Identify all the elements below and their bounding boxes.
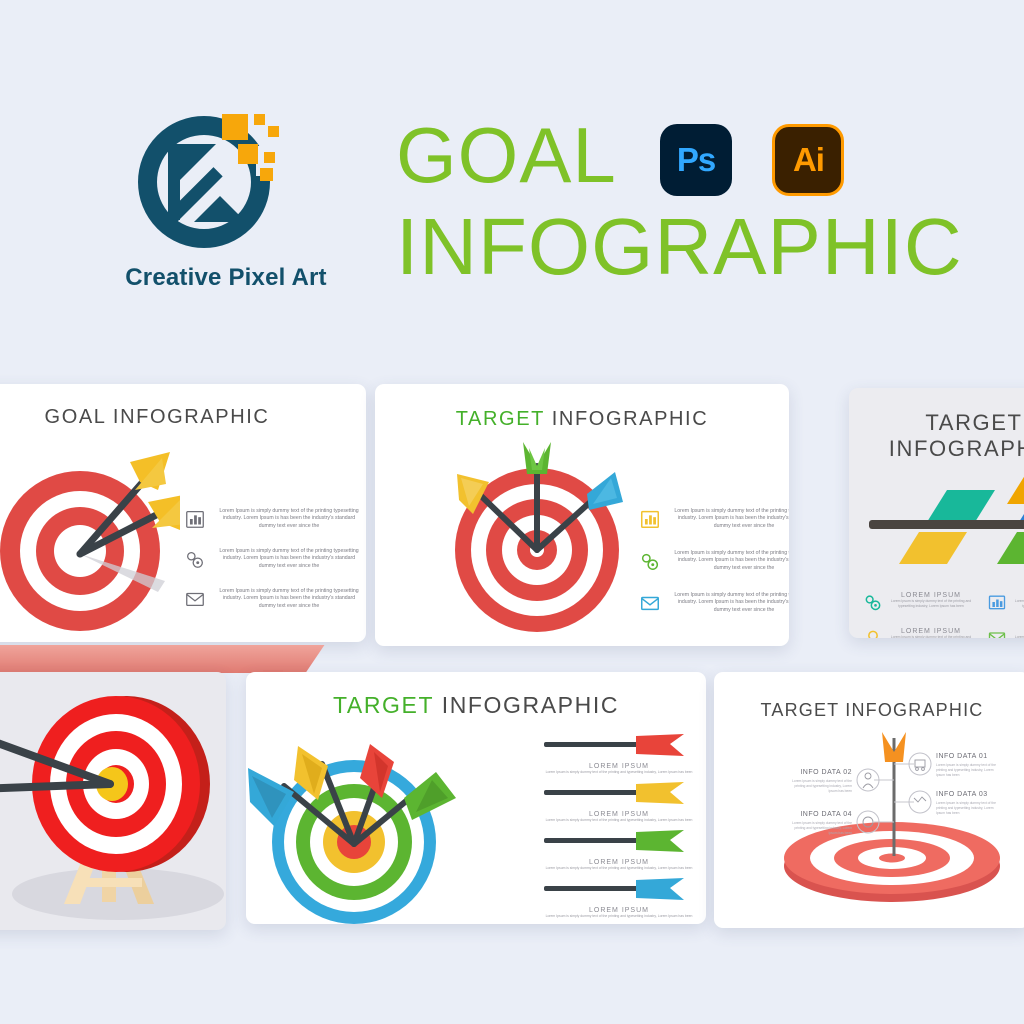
bar-chart-icon [987,592,1007,612]
logo-pixel-6 [260,168,273,181]
card3-item-2-label: LOREM IPSUM [1013,592,1024,599]
logo-pixel-2 [254,114,265,125]
illustrator-badge-label: Ai [775,127,841,193]
svg-text:Ipsum has been: Ipsum has been [829,831,853,835]
card5-legend-2-note: Lorem Ipsum is simply dummy text of the … [544,818,694,823]
card3-item-1-note: Lorem Ipsum is simply dummy text of the … [889,599,973,608]
card3-item-3-label: LOREM IPSUM [889,628,973,635]
slide-card-goal-infographic[interactable]: GOAL INFOGRAPHIC Lorem Ipsum is simply d… [0,384,366,642]
card2-row-1-text: Lorem Ipsum is simply dummy text of the … [669,508,789,530]
card5-legend-1-label: LOREM IPSUM [544,763,694,770]
card6-node-1-label: INFO DATA 01 [936,753,988,760]
svg-text:printing and typesetting indus: printing and typesetting industry, Lorem [795,784,853,788]
card5-legend-4: LOREM IPSUM Lorem Ipsum is simply dummy … [544,878,694,919]
card5-legend-2-label: LOREM IPSUM [544,811,694,818]
decorative-band [0,645,305,673]
card5-legend-4-note: Lorem Ipsum is simply dummy text of the … [544,914,694,919]
card1-row-1-text: Lorem Ipsum is simply dummy text of the … [214,508,364,530]
card5-arrow-1-icon [544,734,694,756]
slide-card-target-infographic-a[interactable]: TARGET INFOGRAPHIC [375,384,789,646]
card2-row-3: Lorem Ipsum is simply dummy text of the … [639,592,789,614]
photoshop-badge-label: Ps [660,124,732,196]
gears-icon [184,548,206,570]
software-badges: Ps Ai [660,124,844,196]
card2-title-accent: TARGET [456,408,545,430]
svg-text:printing and typesetting indus: printing and typesetting industry, Lorem [936,768,994,772]
card3-item-4-note: Lorem Ipsum is simply dummy text of the … [1013,635,1024,638]
card5-legend-3: LOREM IPSUM Lorem Ipsum is simply dummy … [544,830,694,871]
card3-title-line-1: TARGET [849,410,1024,436]
card3-item-4: LOREM IPSUM Lorem Ipsum is simply dummy … [987,628,1024,638]
card2-row-2: Lorem Ipsum is simply dummy text of the … [639,550,789,572]
card5-legend-4-label: LOREM IPSUM [544,907,694,914]
card6-node-4-label: INFO DATA 04 [800,811,852,818]
photoshop-badge[interactable]: Ps [660,124,732,196]
slide-card-multicolor-target[interactable]: TARGET INFOGRAPHIC [246,672,706,924]
svg-text:Lorem Ipsum is simply dummy te: Lorem Ipsum is simply dummy text of the [792,779,852,783]
svg-text:Ipsum has been: Ipsum has been [936,811,960,815]
card1-row-3: Lorem Ipsum is simply dummy text of the … [184,588,364,610]
poster-canvas: Creative Pixel Art GOAL INFOGRAPHIC Ps A… [0,0,1024,1024]
card3-item-1-label: LOREM IPSUM [889,592,973,599]
card5-arrow-3-icon [544,830,694,852]
card3-item-2-note: Lorem Ipsum is simply dummy text of the … [1013,599,1024,608]
illustrator-badge[interactable]: Ai [772,124,844,196]
logo-k-glyph [168,144,244,224]
card3-item-2: LOREM IPSUM Lorem Ipsum is simply dummy … [987,592,1024,612]
card4-easel-target-graphic: LOREM IPSUM LOREM IPSUM Lorem Ipsum is s… [0,672,226,930]
bar-chart-icon [639,508,661,530]
card5-title: TARGET INFOGRAPHIC [246,692,706,719]
card3-item-1: LOREM IPSUM Lorem Ipsum is simply dummy … [863,592,973,612]
card3-chevron-arrow-graphic [857,464,1024,584]
gears-icon [639,550,661,572]
envelope-icon [987,628,1007,638]
logo-pixel-3 [268,126,279,137]
slide-card-target-infographic-b[interactable]: TARGET INFOGRAPHIC LOREM IPSUM Lorem Ips… [849,388,1024,638]
svg-text:Lorem Ipsum is simply dummy te: Lorem Ipsum is simply dummy text of the [792,821,852,825]
card5-title-main: INFOGRAPHIC [442,692,619,718]
card6-node-3-label: INFO DATA 03 [936,791,988,798]
card5-arrow-4-icon [544,878,694,900]
card2-target-graphic [437,438,647,638]
svg-text:printing and typesetting indus: printing and typesetting industry, Lorem [936,806,994,810]
svg-text:printing and typesetting indus: printing and typesetting industry, Lorem [795,826,853,830]
envelope-icon [184,588,206,610]
envelope-icon [639,592,661,614]
card5-legend-3-note: Lorem Ipsum is simply dummy text of the … [544,866,694,871]
card2-row-2-text: Lorem Ipsum is simply dummy text of the … [669,550,789,572]
card1-row-2-text: Lorem Ipsum is simply dummy text of the … [214,548,364,570]
slide-card-info-data-target[interactable]: TARGET INFOGRAPHIC [714,672,1024,928]
card6-node-2-label: INFO DATA 02 [800,769,852,776]
logo-k-lower-triangle [194,196,246,222]
slide-card-easel-target[interactable]: LOREM IPSUM LOREM IPSUM Lorem Ipsum is s… [0,672,226,930]
card2-title: TARGET INFOGRAPHIC [375,408,789,431]
svg-text:Lorem Ipsum is simply dummy te: Lorem Ipsum is simply dummy text of the [936,763,996,767]
bar-chart-icon [184,508,206,530]
logo-pixel-5 [264,152,275,163]
card3-title-line-2: INFOGRAPHIC [849,436,1024,462]
brand-name: Creative Pixel Art [118,264,334,292]
gears-icon [863,592,883,612]
card5-legend-2: LOREM IPSUM Lorem Ipsum is simply dummy … [544,782,694,823]
card3-item-3: LOREM IPSUM Lorem Ipsum is simply dummy … [863,628,973,638]
svg-text:Ipsum has been: Ipsum has been [829,789,853,793]
card5-arrow-2-icon [544,782,694,804]
card1-row-1: Lorem Ipsum is simply dummy text of the … [184,508,364,530]
card6-target-graphic: INFO DATA 01 INFO DATA 03 INFO DATA 02 I… [714,726,1024,926]
card2-row-1: Lorem Ipsum is simply dummy text of the … [639,508,789,530]
card3-item-3-note: Lorem Ipsum is simply dummy text of the … [889,635,973,638]
card1-row-3-text: Lorem Ipsum is simply dummy text of the … [214,588,364,610]
poster-header: Creative Pixel Art GOAL INFOGRAPHIC Ps A… [0,0,1024,372]
card5-legend-1: LOREM IPSUM Lorem Ipsum is simply dummy … [544,734,694,775]
card5-title-accent: TARGET [333,692,434,718]
card6-title: TARGET INFOGRAPHIC [714,700,1024,721]
poster-title-line-2: INFOGRAPHIC [396,210,976,284]
card1-target-graphic [0,446,180,636]
award-icon [863,628,883,638]
svg-text:Ipsum has been: Ipsum has been [936,773,960,777]
logo-pixel-4 [238,144,258,164]
svg-text:Lorem Ipsum is simply dummy te: Lorem Ipsum is simply dummy text of the [936,801,996,805]
logo-mark-icon [138,112,288,262]
logo-pixel-1 [222,114,248,140]
card2-title-main: INFOGRAPHIC [552,408,709,430]
brand-logo: Creative Pixel Art [128,112,324,302]
card5-legend-3-label: LOREM IPSUM [544,859,694,866]
card2-row-3-text: Lorem Ipsum is simply dummy text of the … [669,592,789,614]
card1-row-2: Lorem Ipsum is simply dummy text of the … [184,548,364,570]
card5-legend-1-note: Lorem Ipsum is simply dummy text of the … [544,770,694,775]
card3-item-4-label: LOREM IPSUM [1013,628,1024,635]
card1-title: GOAL INFOGRAPHIC [0,406,366,429]
card5-target-graphic [246,724,496,924]
